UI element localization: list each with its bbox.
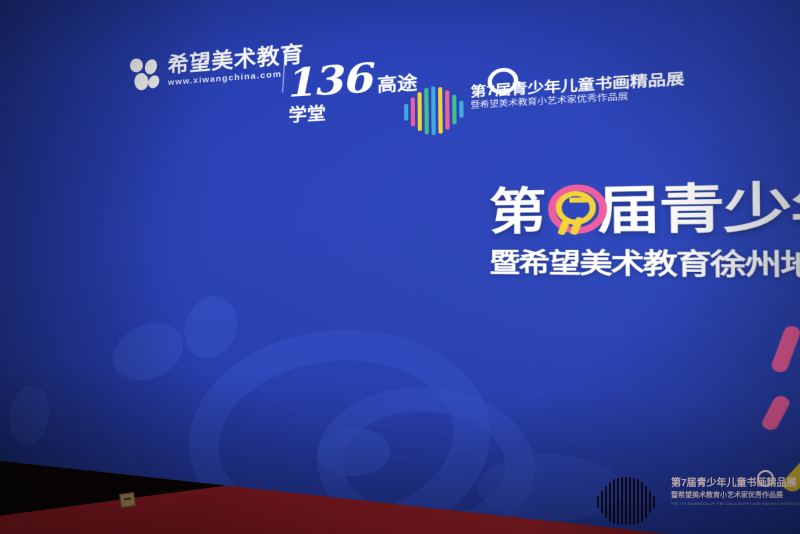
- floor-logo-line1: 第7届青少年儿童书画精品展: [671, 478, 800, 490]
- fingerprint-bars-icon: [597, 476, 663, 526]
- exhibition-hall-photo: 希望美术教育 www.xiwangchina.com 136高途学堂: [0, 0, 800, 534]
- floor-logo-text: 第7届青少年儿童书画精品展 暨希望美术教育小艺术家优秀作品展 THE 7TH E…: [671, 478, 800, 507]
- led-banner-wall: 希望美术教育 www.xiwangchina.com 136高途学堂: [0, 0, 800, 534]
- power-outlet-icon: [119, 492, 136, 508]
- floor-logo-line2: 暨希望美术教育小艺术家优秀作品展: [671, 491, 800, 500]
- floor-logo-graphic: 第7届青少年儿童书画精品展 暨希望美术教育小艺术家优秀作品展 THE 7TH E…: [597, 470, 797, 532]
- floor-logo-line3: THE 7TH EXHIBITION OF FINE CALLIGRAPHY A…: [671, 502, 800, 507]
- banner-vertical-shading: [0, 0, 800, 534]
- spiral-circle-icon: [757, 470, 774, 487]
